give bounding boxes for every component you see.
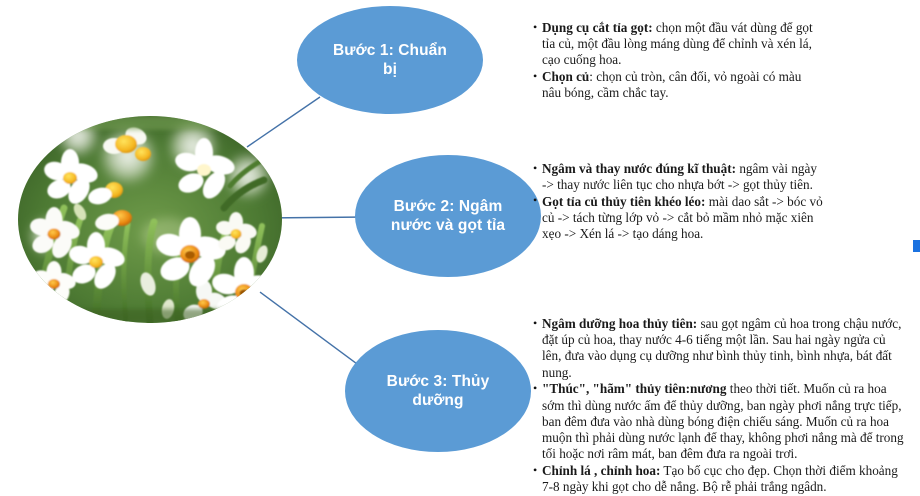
bullet-list: Ngâm dưỡng hoa thủy tiên: sau gọt ngâm c… (533, 316, 905, 496)
text-block-buoc-1: Dụng cụ cắt tỉa gọt: chọn một đầu vát dù… (533, 20, 821, 102)
step-ellipse-label: Bước 1: Chuẩn bị (319, 41, 461, 80)
bullet-item: Chỉnh lá , chỉnh hoa: Tạo bố cục cho đẹp… (533, 463, 905, 495)
step-ellipse-label: Bước 3: Thủy dưỡng (373, 372, 504, 411)
narcissus-photo (18, 116, 282, 323)
bullet-item: "Thúc", "hãm" thủy tiên:nương theo thời … (533, 381, 905, 462)
bullet-item: Ngâm và thay nước đúng kĩ thuật: ngâm và… (533, 161, 823, 193)
bullet-list: Dụng cụ cắt tỉa gọt: chọn một đầu vát dù… (533, 20, 821, 102)
bullet-lead: "Thúc", "hãm" thủy tiên:nương (542, 381, 726, 396)
bullet-lead: Chỉnh lá , chỉnh hoa: (542, 463, 660, 478)
step-ellipse-buoc-2[interactable]: Bước 2: Ngâm nước và gọt tỉa (355, 155, 541, 277)
text-block-buoc-2: Ngâm và thay nước đúng kĩ thuật: ngâm và… (533, 161, 823, 243)
text-block-buoc-3: Ngâm dưỡng hoa thủy tiên: sau gọt ngâm c… (533, 316, 905, 496)
bullet-item: Dụng cụ cắt tỉa gọt: chọn một đầu vát dù… (533, 20, 821, 69)
narcissus-photo-graphic (18, 116, 282, 323)
bullet-item: Ngâm dưỡng hoa thủy tiên: sau gọt ngâm c… (533, 316, 905, 381)
step-ellipse-buoc-3[interactable]: Bước 3: Thủy dưỡng (345, 330, 531, 452)
bullet-lead: Ngâm và thay nước đúng kĩ thuật: (542, 161, 736, 176)
step-ellipse-label: Bước 2: Ngâm nước và gọt tỉa (377, 197, 519, 236)
bullet-list: Ngâm và thay nước đúng kĩ thuật: ngâm và… (533, 161, 823, 243)
connector-photo-to-step1 (247, 97, 320, 147)
slide-canvas: Bước 1: Chuẩn bị Bước 2: Ngâm nước và gọ… (0, 0, 920, 493)
bullet-lead: Dụng cụ cắt tỉa gọt: (542, 20, 653, 35)
step-ellipse-buoc-1[interactable]: Bước 1: Chuẩn bị (297, 6, 483, 114)
bullet-item: Gọt tỉa củ thủy tiên khéo léo: mài dao s… (533, 194, 823, 243)
bullet-lead: Ngâm dưỡng hoa thủy tiên: (542, 316, 697, 331)
bullet-lead: Gọt tỉa củ thủy tiên khéo léo: (542, 194, 705, 209)
bullet-item: Chọn củ: chọn củ tròn, cân đối, vỏ ngoài… (533, 69, 821, 101)
bullet-lead: Chọn củ (542, 69, 589, 84)
edge-marker (913, 240, 920, 252)
connector-photo-to-step3 (260, 292, 368, 372)
